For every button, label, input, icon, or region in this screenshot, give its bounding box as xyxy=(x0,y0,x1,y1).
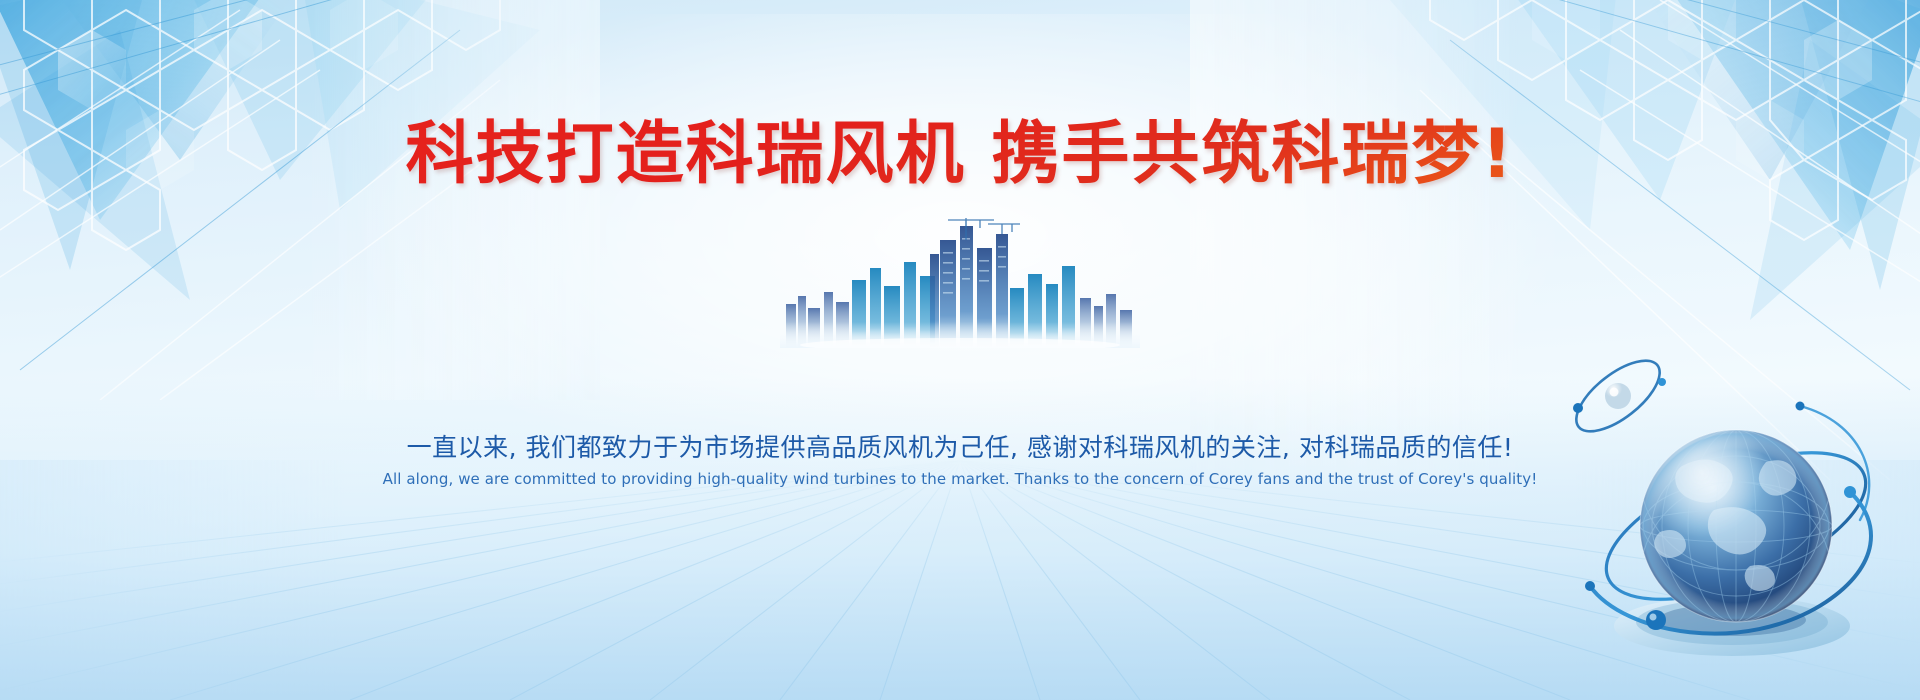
perspective-grid-floor xyxy=(0,460,1920,700)
globe-with-orbits-illustration xyxy=(1564,334,1884,674)
bottom-glow xyxy=(0,378,1920,700)
hexagon-tech-pattern-right xyxy=(1190,0,1920,480)
hexagon-tech-pattern-left xyxy=(0,0,600,400)
hero-banner: 科技打造科瑞风机 携手共筑科瑞梦! 科技打造科瑞风机 携手共筑科瑞梦! 一直以来… xyxy=(0,0,1920,700)
subtitle-chinese: 一直以来, 我们都致力于为市场提供高品质风机为己任, 感谢对科瑞风机的关注, 对… xyxy=(0,428,1920,464)
page-title: 科技打造科瑞风机 携手共筑科瑞梦! xyxy=(0,118,1920,193)
city-skyline-illustration xyxy=(780,218,1140,348)
subtitle-english: All along, we are committed to providing… xyxy=(0,470,1920,488)
